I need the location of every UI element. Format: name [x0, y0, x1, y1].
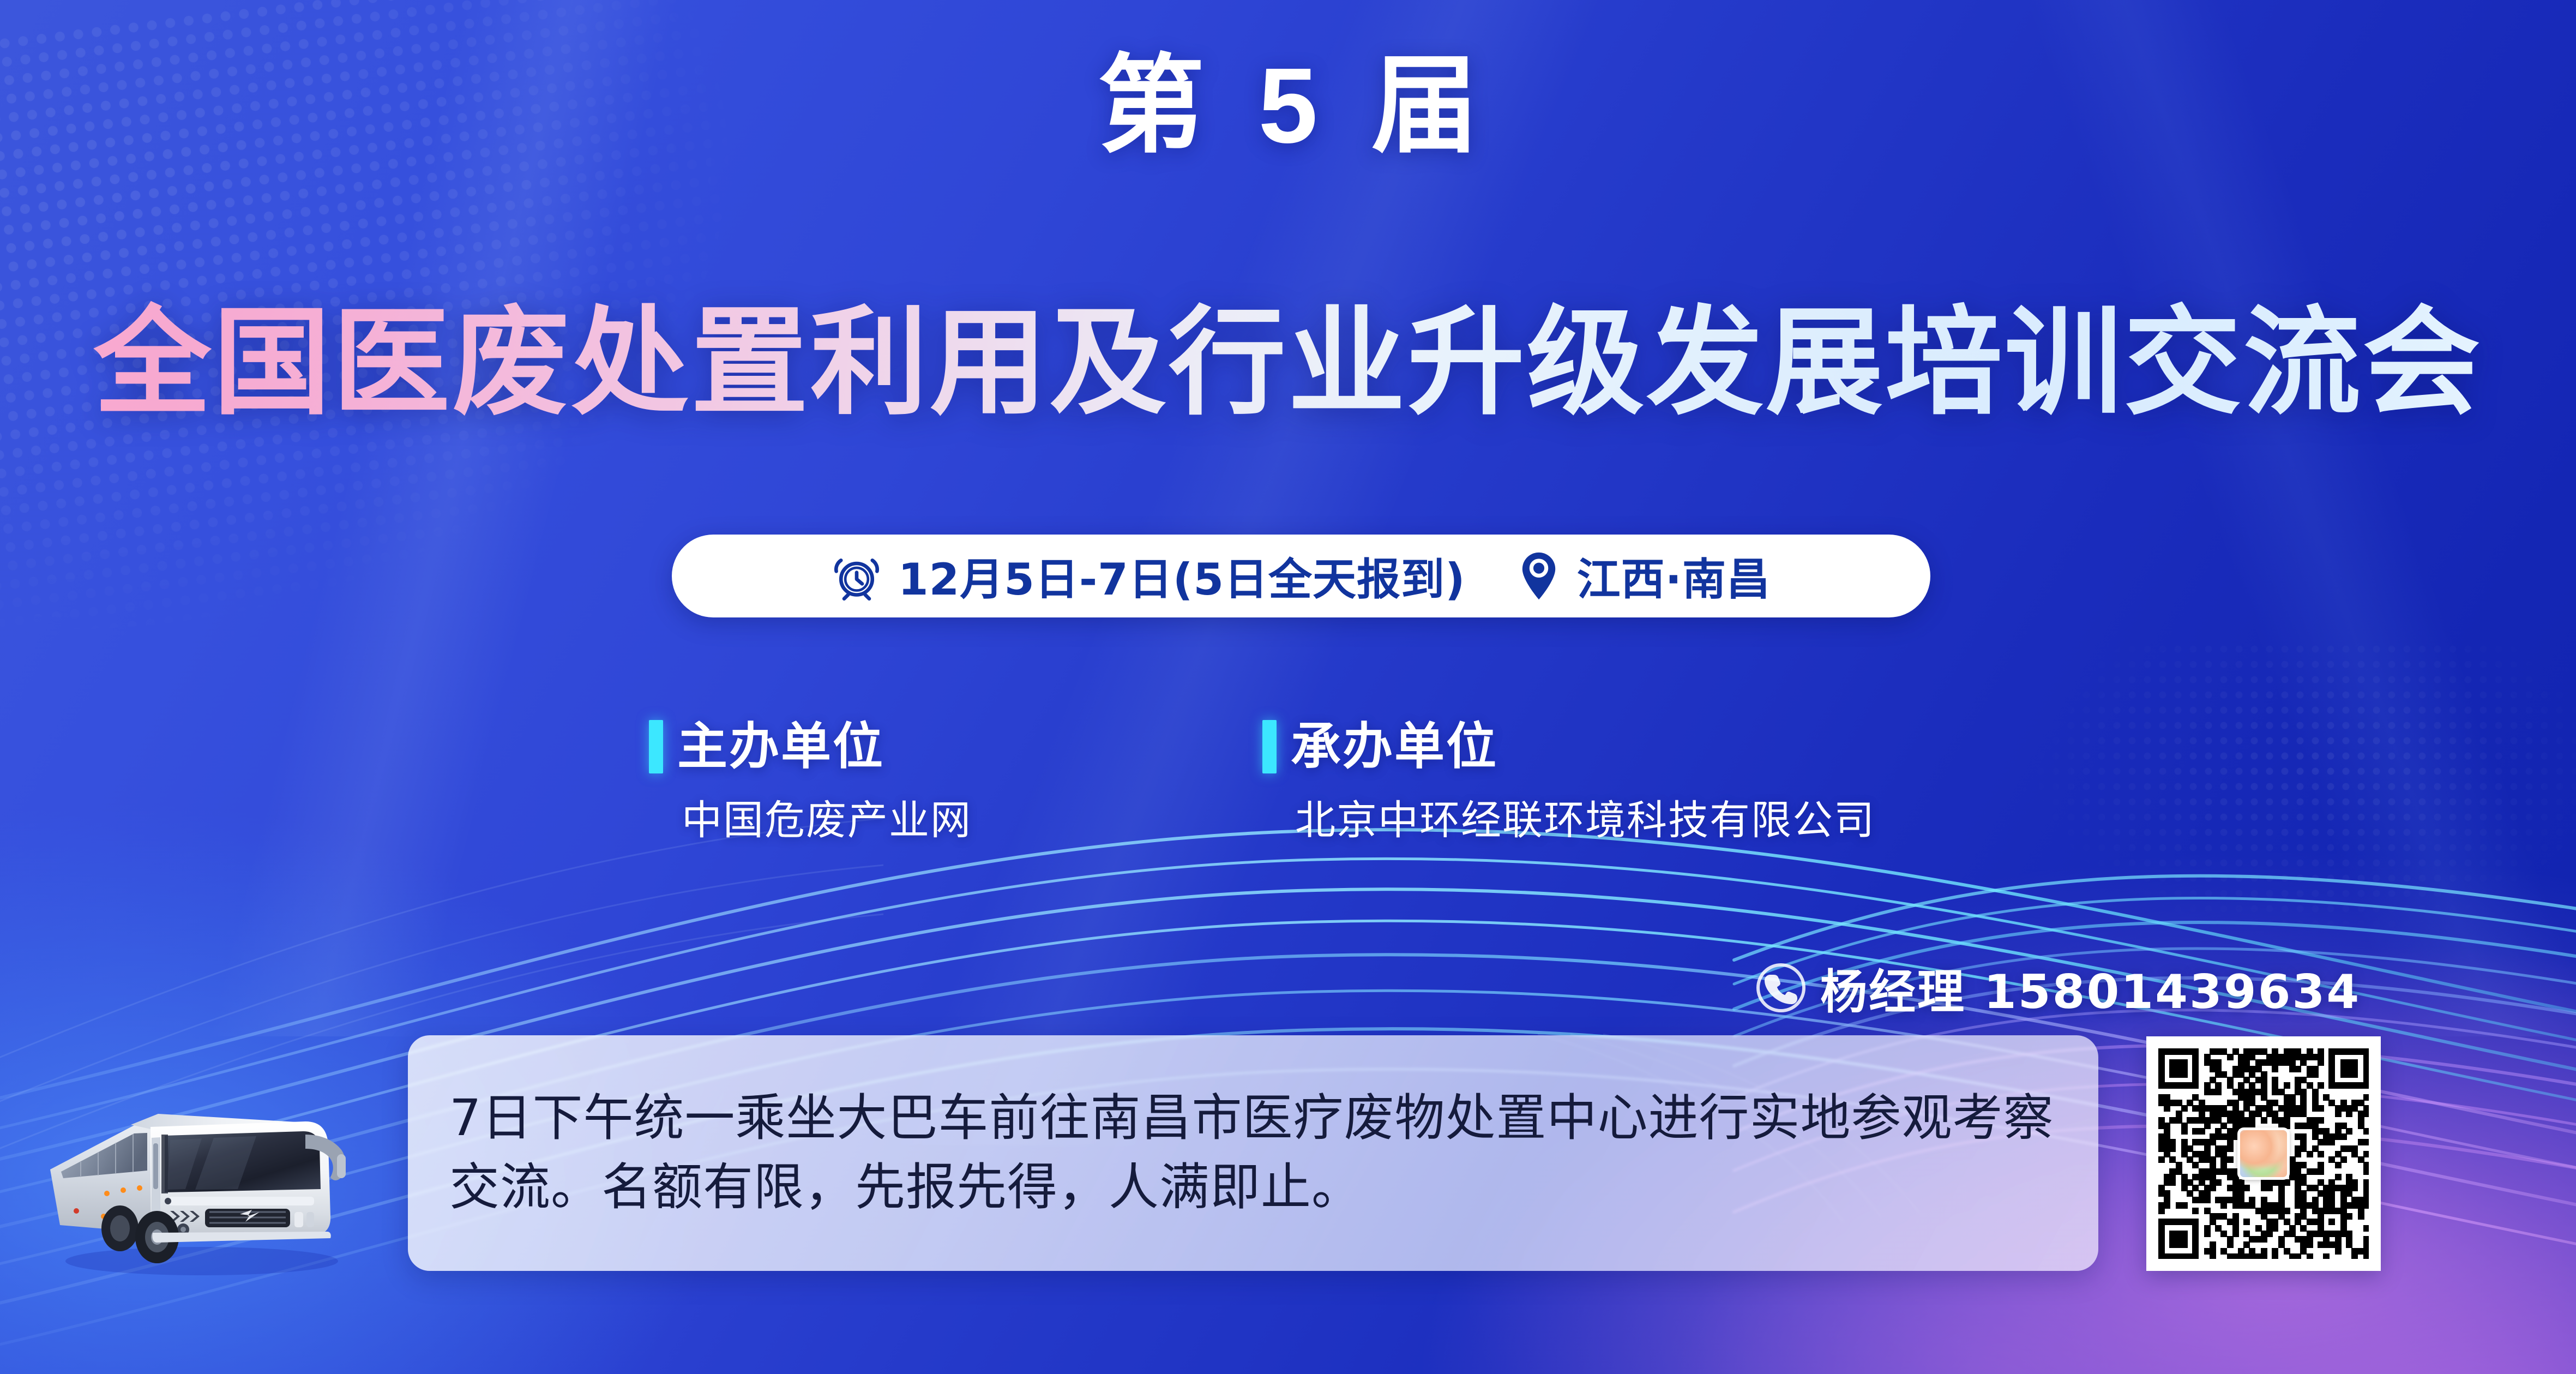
phone-icon	[1755, 962, 1807, 1014]
coach-bus-image	[22, 1053, 398, 1282]
flower-bouquet-avatar	[2237, 1127, 2290, 1180]
contact-info[interactable]: 杨经理 15801439634	[1755, 953, 2361, 1022]
alarm-clock-icon	[832, 551, 882, 601]
wechat-qr-code[interactable]	[2146, 1036, 2381, 1271]
accent-bar	[649, 720, 663, 773]
page-title: 全国医废处置利用及行业升级发展培训交流会	[0, 295, 2576, 430]
event-poster: 第 5 届 全国医废处置利用及行业升级发展培训交流会 12月5日-7日(5日全天…	[0, 0, 2576, 1374]
event-date: 12月5日-7日(5日全天报到)	[898, 544, 1466, 608]
accent-bar	[1262, 720, 1277, 773]
host-organizer-header: 主办单位	[649, 720, 972, 773]
host-organizer: 主办单位 中国危废产业网	[649, 720, 972, 843]
host-organizer-name: 中国危废产业网	[682, 799, 972, 843]
notice-text: 7日下午统一乘坐大巴车前往南昌市医疗废物处置中心进行实地参观考察交流。名额有限，…	[449, 1084, 2057, 1222]
edition-title: 第 5 届	[0, 52, 2576, 159]
co-host-organizer-header: 承办单位	[1262, 720, 1875, 773]
host-organizer-label: 主办单位	[677, 722, 884, 772]
notice-box: 7日下午统一乘坐大巴车前往南昌市医疗废物处置中心进行实地参观考察交流。名额有限，…	[408, 1035, 2098, 1271]
co-host-organizer: 承办单位 北京中环经联环境科技有限公司	[1262, 720, 1875, 843]
location-pin-icon	[1517, 551, 1561, 601]
co-host-organizer-label: 承办单位	[1291, 722, 1498, 772]
date-location-pill: 12月5日-7日(5日全天报到) 江西·南昌	[672, 535, 1930, 617]
contact-text: 杨经理 15801439634	[1820, 953, 2361, 1022]
event-location: 江西·南昌	[1577, 544, 1771, 608]
co-host-organizer-name: 北京中环经联环境科技有限公司	[1295, 799, 1875, 843]
